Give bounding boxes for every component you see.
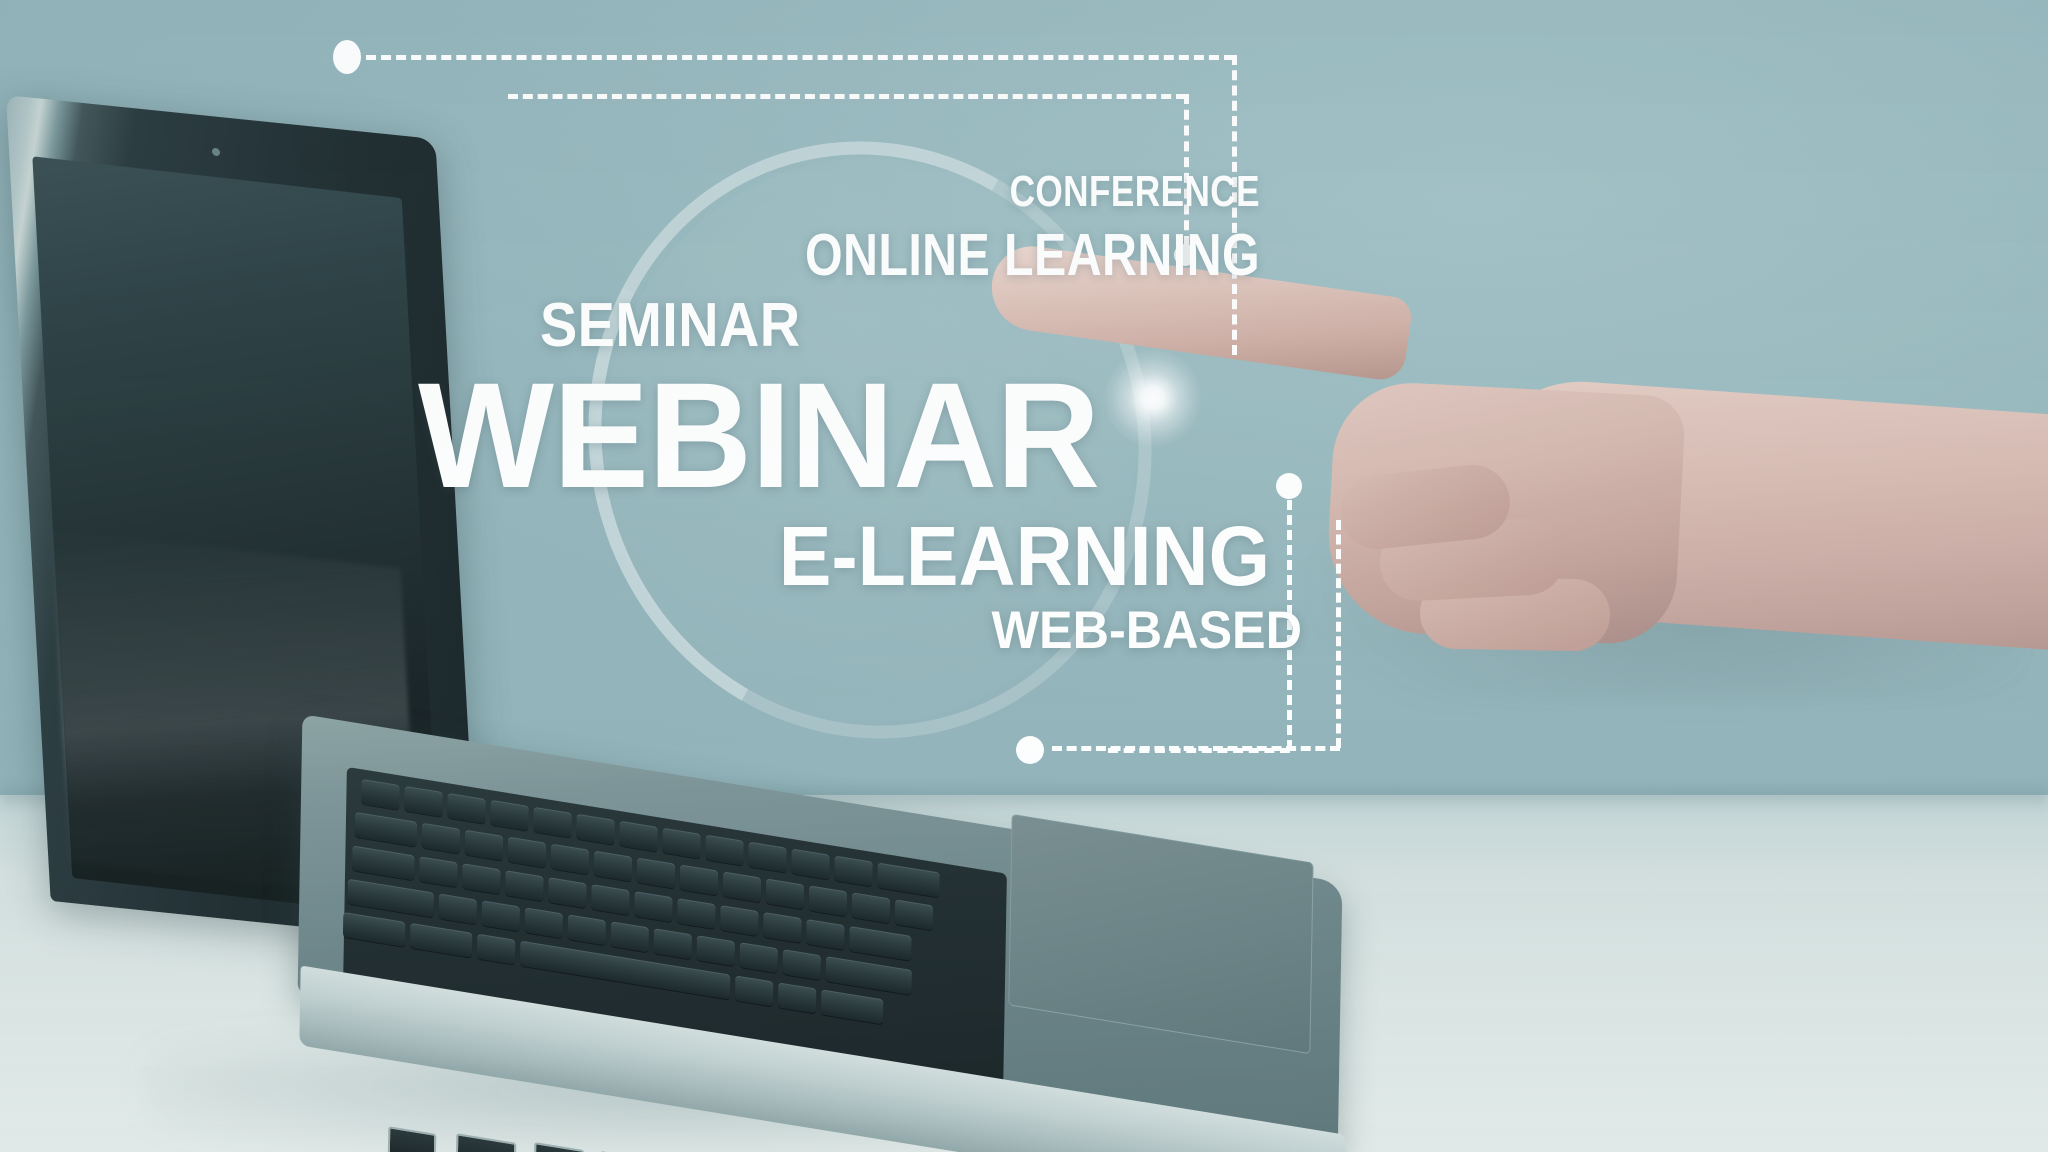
key[interactable]	[490, 800, 528, 831]
keyword-online-learning: ONLINE LEARNING	[670, 226, 1260, 285]
key[interactable]	[705, 835, 743, 866]
key[interactable]	[439, 893, 477, 924]
key[interactable]	[806, 919, 844, 950]
key[interactable]	[619, 821, 657, 852]
key[interactable]	[477, 934, 515, 965]
key[interactable]	[763, 912, 801, 943]
banner-image: CONFERENCE ONLINE LEARNING SEMINAR WEBIN…	[0, 0, 2048, 1152]
keyword-seminar: SEMINAR	[540, 295, 1188, 357]
key[interactable]	[361, 779, 399, 810]
key[interactable]	[778, 982, 816, 1013]
key[interactable]	[634, 891, 672, 922]
webcam-icon	[212, 148, 220, 157]
key[interactable]	[783, 949, 821, 980]
key[interactable]	[677, 898, 715, 929]
key[interactable]	[735, 975, 773, 1006]
key[interactable]	[662, 828, 700, 859]
key[interactable]	[465, 830, 503, 861]
key[interactable]	[419, 856, 457, 887]
key[interactable]	[568, 914, 606, 945]
key[interactable]	[680, 865, 718, 896]
key[interactable]	[551, 844, 589, 875]
key[interactable]	[591, 884, 629, 915]
key[interactable]	[355, 812, 417, 847]
port-ethernet-icon[interactable]	[456, 1133, 517, 1152]
key[interactable]	[508, 837, 546, 868]
key[interactable]	[834, 856, 872, 887]
keyword-web-based: WEB-BASED	[578, 604, 1302, 657]
key[interactable]	[548, 877, 586, 908]
key[interactable]	[720, 905, 758, 936]
key[interactable]	[748, 842, 786, 873]
key[interactable]	[821, 989, 883, 1024]
key[interactable]	[809, 885, 847, 916]
key[interactable]	[723, 871, 761, 902]
key[interactable]	[697, 935, 735, 966]
key[interactable]	[410, 923, 472, 958]
keyword-conference: CONFERENCE	[684, 170, 1260, 214]
keyword-webinar: WEBINAR	[418, 359, 1226, 512]
key[interactable]	[826, 956, 912, 995]
key[interactable]	[895, 899, 933, 930]
key[interactable]	[505, 870, 543, 901]
key[interactable]	[766, 878, 804, 909]
key[interactable]	[637, 858, 675, 889]
key[interactable]	[791, 849, 829, 880]
port-vga-icon[interactable]	[534, 1142, 585, 1152]
key[interactable]	[525, 907, 563, 938]
key[interactable]	[576, 814, 614, 845]
key[interactable]	[877, 863, 939, 898]
key[interactable]	[348, 879, 434, 918]
key[interactable]	[849, 926, 911, 961]
key[interactable]	[740, 942, 778, 973]
key[interactable]	[594, 851, 632, 882]
key[interactable]	[404, 786, 442, 817]
key[interactable]	[654, 928, 692, 959]
key[interactable]	[852, 892, 890, 923]
key[interactable]	[343, 912, 405, 947]
keyword-stack: CONFERENCE ONLINE LEARNING SEMINAR WEBIN…	[540, 170, 1260, 657]
port-power-icon[interactable]	[388, 1126, 437, 1152]
key[interactable]	[422, 823, 460, 854]
key[interactable]	[352, 845, 414, 880]
keyword-e-learning: E-LEARNING	[584, 514, 1270, 598]
key[interactable]	[462, 863, 500, 894]
key[interactable]	[611, 921, 649, 952]
key[interactable]	[533, 807, 571, 838]
key[interactable]	[482, 900, 520, 931]
key[interactable]	[447, 793, 485, 824]
